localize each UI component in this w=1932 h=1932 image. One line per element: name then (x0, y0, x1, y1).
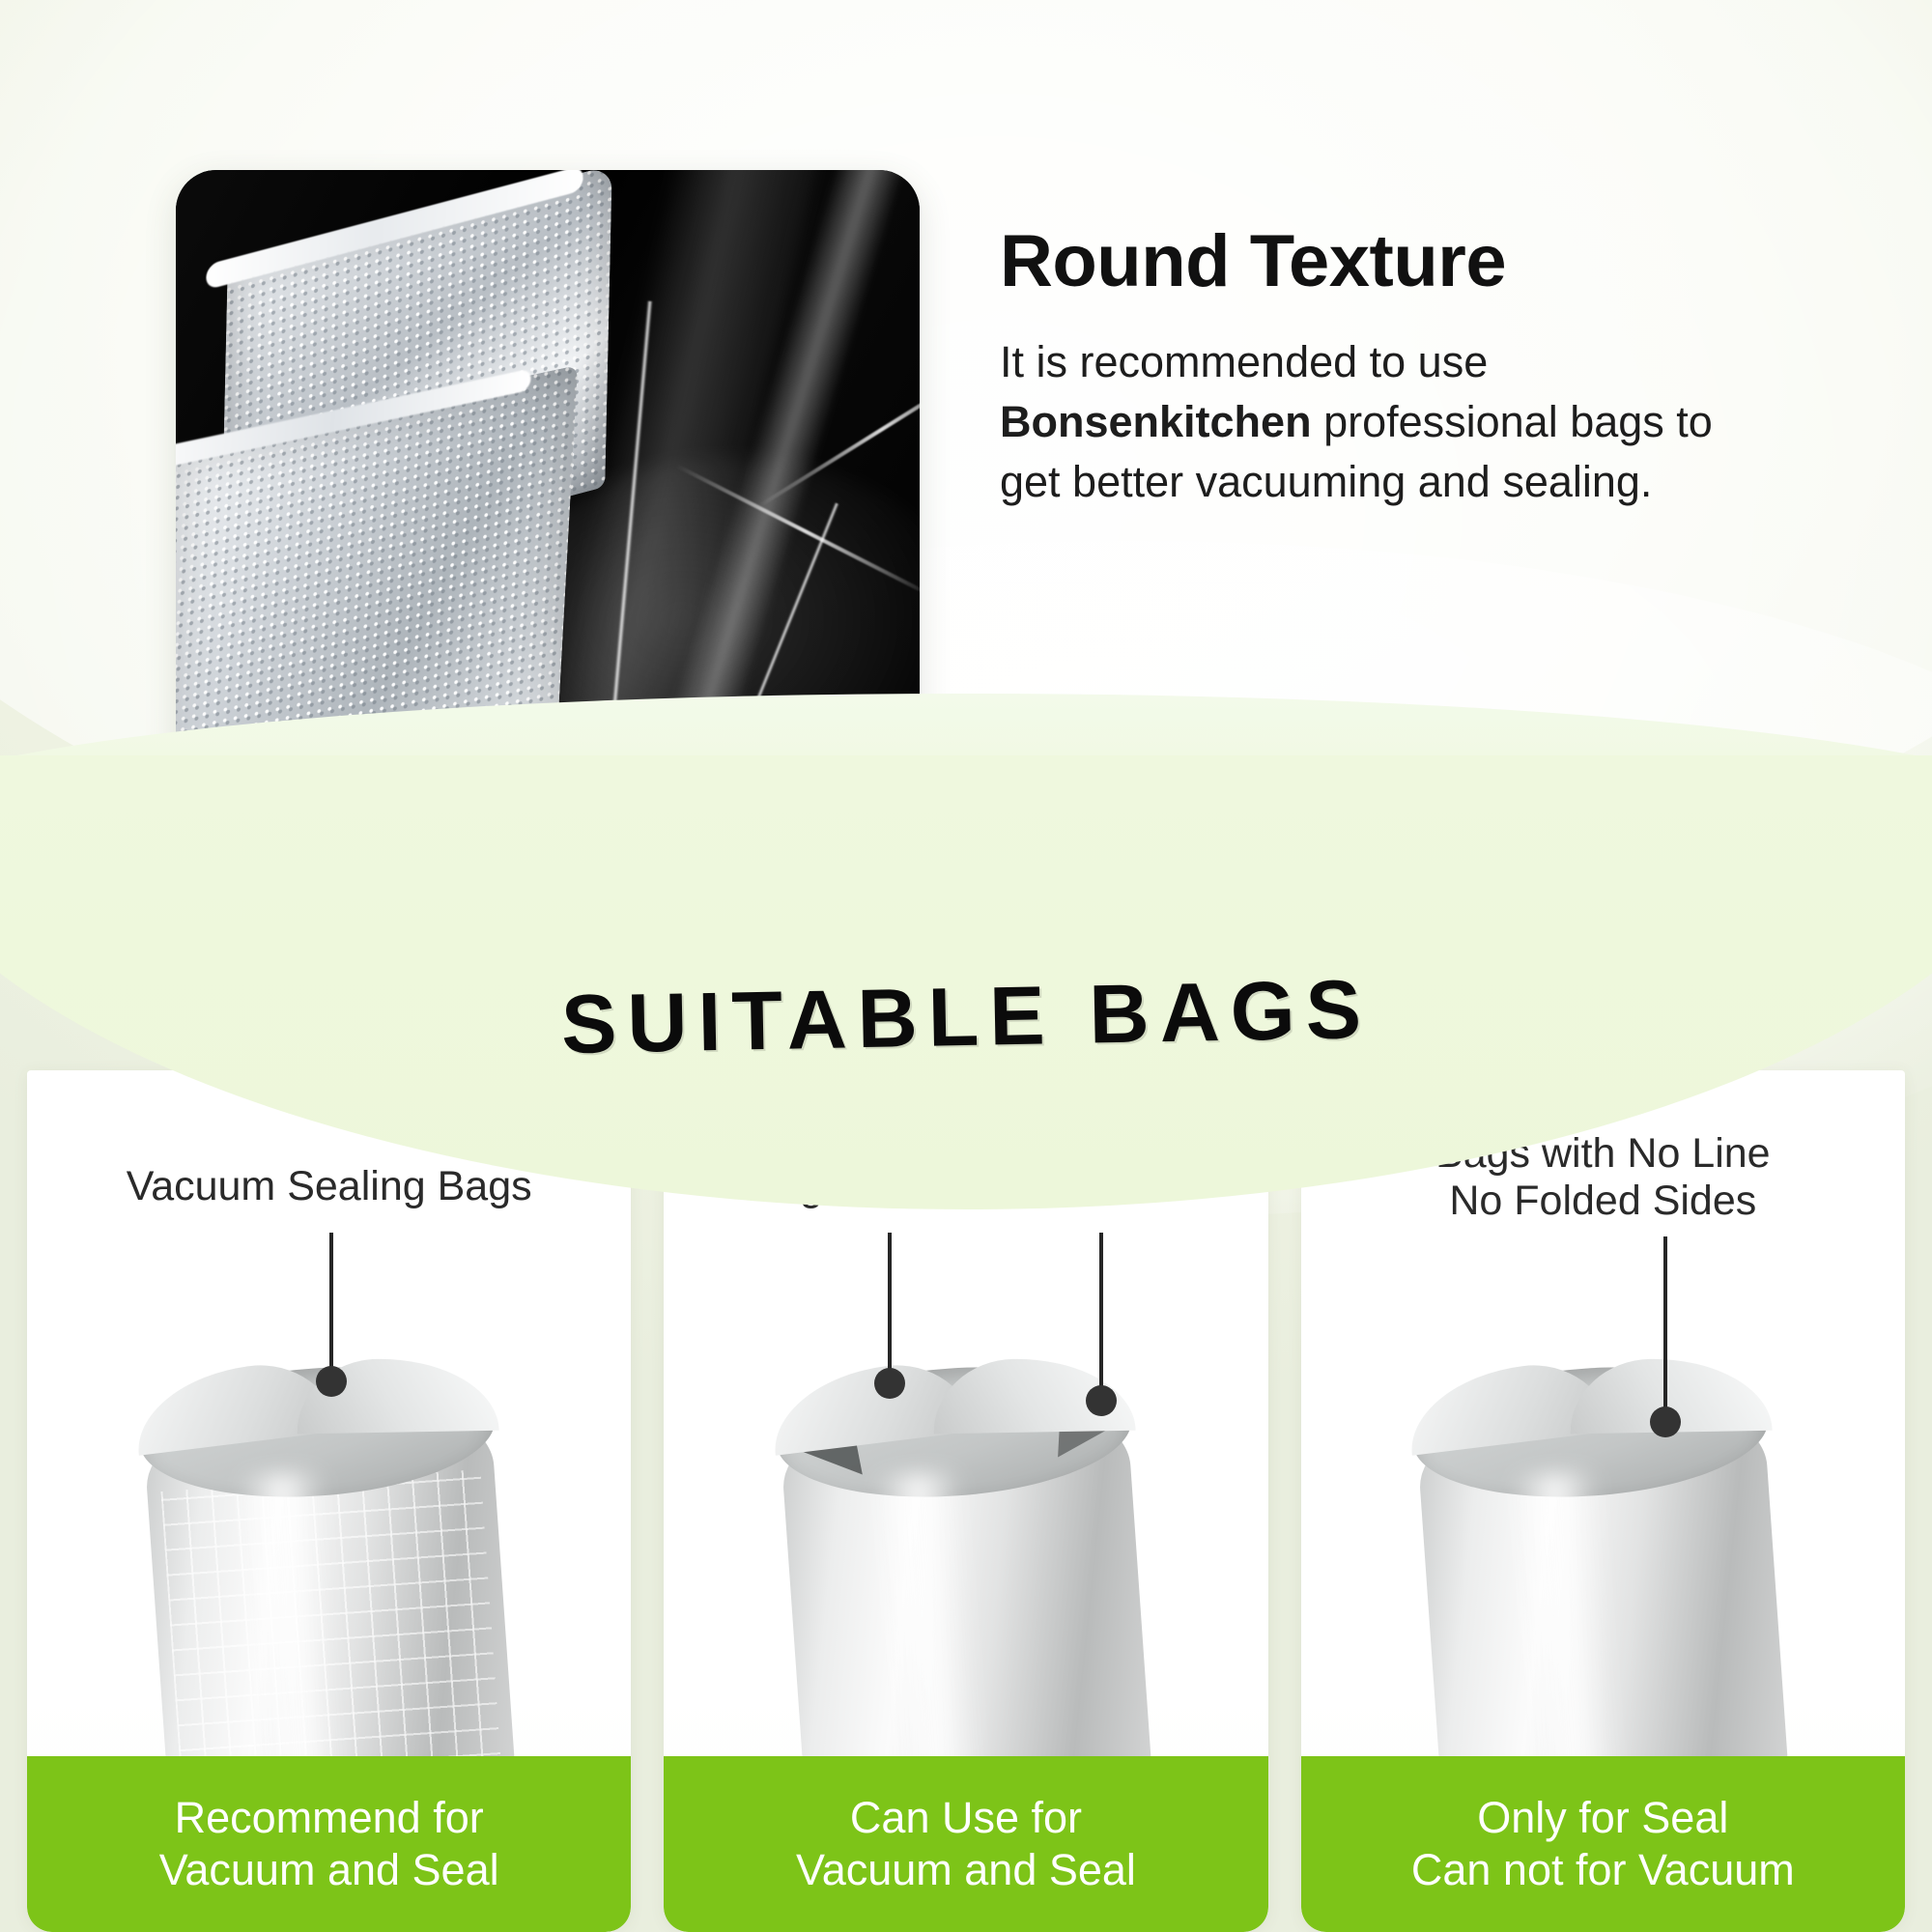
hero-desc-prefix: It is recommended to use (1000, 337, 1488, 386)
callout-dot (316, 1366, 347, 1397)
callout-line (888, 1233, 892, 1379)
status-line-2: Can not for Vacuum (1411, 1845, 1795, 1894)
callout-line (1099, 1233, 1103, 1397)
status-line-1: Only for Seal (1477, 1793, 1728, 1842)
hero-description: It is recommended to use Bonsenkitchen p… (1000, 332, 1773, 512)
bag-illustration-wrap (664, 1277, 1267, 1818)
section-title: SUITABLE BAGS (0, 970, 1932, 1065)
status-line-1: Recommend for (175, 1793, 484, 1842)
infographic-page: Round Texture It is recommended to use B… (0, 0, 1932, 1932)
status-badge-text: Recommend forVacuum and Seal (159, 1792, 499, 1896)
callout-dot (1086, 1385, 1117, 1416)
bag-illustration-wrap (1301, 1277, 1905, 1818)
card-label-line-2: No Folded Sides (1449, 1178, 1756, 1224)
bag-illustration-no-line (1412, 1343, 1794, 1818)
section-title-text: SUITABLE BAGS (560, 962, 1373, 1073)
status-badge: Recommend forVacuum and Seal (27, 1756, 631, 1932)
status-line-1: Can Use for (850, 1793, 1082, 1842)
bag-illustration-vacuum-sealing (138, 1343, 520, 1818)
status-badge: Can Use forVacuum and Seal (664, 1756, 1267, 1932)
callout-dot (1650, 1406, 1681, 1437)
status-badge: Only for SealCan not for Vacuum (1301, 1756, 1905, 1932)
status-badge-text: Can Use forVacuum and Seal (796, 1792, 1136, 1896)
bag-card-vacuum-sealing[interactable]: Vacuum Sealing Bags Recommend forVacuum … (27, 1070, 631, 1932)
brand-name: Bonsenkitchen (1000, 397, 1312, 446)
callout-dot (874, 1368, 905, 1399)
status-line-2: Vacuum and Seal (796, 1845, 1136, 1894)
page-title: Round Texture (1000, 224, 1792, 299)
bag-card-no-line[interactable]: Bags with No LineNo Folded Sides Only fo… (1301, 1070, 1905, 1932)
hero-text-block: Round Texture It is recommended to use B… (1000, 224, 1792, 512)
callout-line (329, 1233, 333, 1378)
callout-line (1663, 1236, 1667, 1418)
status-line-2: Vacuum and Seal (159, 1845, 499, 1894)
status-badge-text: Only for SealCan not for Vacuum (1411, 1792, 1795, 1896)
